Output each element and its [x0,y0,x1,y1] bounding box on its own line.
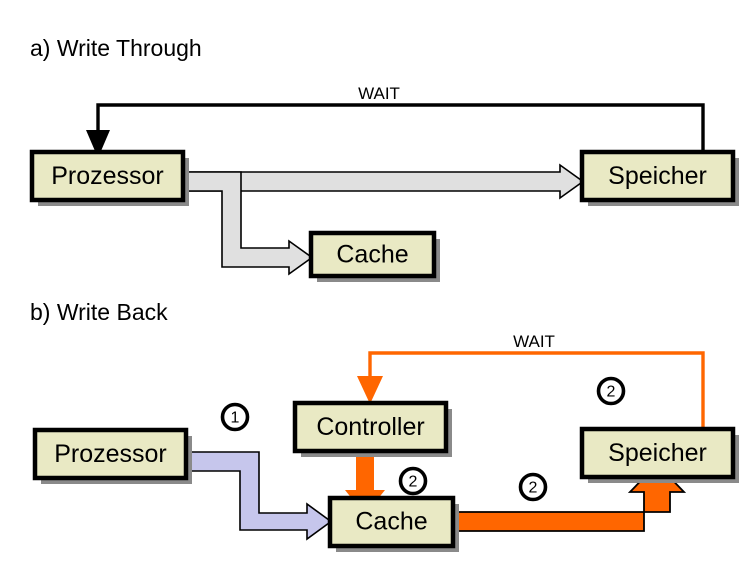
box-cache-a[interactable]: Cache [311,233,440,282]
step-marker-2-controller-label: 2 [409,474,418,491]
flow-prozessor-to-speicher-a [186,165,583,198]
box-prozessor-a-label: Prozessor [51,162,164,190]
wait-label-b: WAIT [513,332,555,351]
step-marker-1-label: 1 [231,410,240,427]
wait-arrowhead-b [357,376,383,404]
step-marker-1-prozessor: 1 [223,405,248,430]
box-controller-b-label: Controller [316,413,424,441]
step-marker-2-cache-label: 2 [529,480,538,497]
lavender-block-arrow-b [186,452,331,539]
box-speicher-b-label: Speicher [608,439,707,467]
box-prozessor-a[interactable]: Prozessor [32,152,189,206]
heading-write-back: b) Write Back [30,299,168,325]
flow-wait-speicher-to-prozessor-a: WAIT [86,84,703,158]
box-speicher-a[interactable]: Speicher [582,152,739,206]
heading-write-through: a) Write Through [30,35,202,61]
step-marker-2-cache-speicher: 2 [521,475,546,500]
section-write-back: b) Write Back WAIT [30,299,739,552]
step-marker-2-controller-cache: 2 [401,469,426,494]
flow-prozessor-to-cache-b [186,452,331,539]
box-cache-b-label: Cache [355,508,427,536]
box-prozessor-b-label: Prozessor [54,440,167,468]
box-speicher-b[interactable]: Speicher [582,429,739,483]
wait-label-a: WAIT [358,84,400,103]
step-marker-2-speicher-label: 2 [607,384,616,401]
box-controller-b[interactable]: Controller [295,403,452,457]
gray-block-arrow-speicher-a [186,165,583,198]
wait-line-a [98,105,703,152]
box-speicher-a-label: Speicher [608,162,707,190]
box-prozessor-b[interactable]: Prozessor [35,430,192,484]
box-cache-b[interactable]: Cache [330,498,459,552]
box-cache-a-label: Cache [336,241,408,269]
cache-write-strategies-diagram: a) Write Through WAIT Prozessor [0,0,751,580]
diagram-root: a) Write Through WAIT Prozessor [0,0,751,580]
step-marker-2-speicher-wait: 2 [599,379,624,404]
section-write-through: a) Write Through WAIT Prozessor [30,35,739,282]
